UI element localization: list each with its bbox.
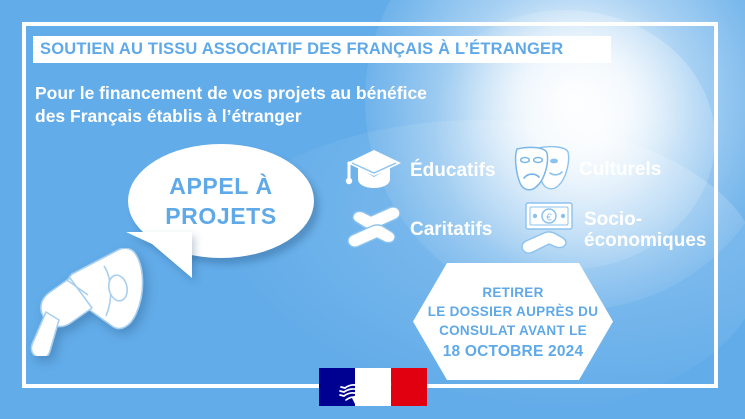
speech-bubble-text: APPEL À PROJETS: [128, 144, 314, 258]
category-label: Socio- économiques: [584, 209, 706, 251]
theater-masks-icon: [512, 142, 572, 197]
svg-text:€: €: [546, 213, 552, 224]
page-subtitle: Pour le financement de vos projets au bé…: [35, 82, 427, 128]
hand-holding-money-icon: €: [521, 200, 577, 259]
category-label: Culturels: [579, 159, 661, 180]
graduation-cap-icon: [345, 146, 403, 195]
title-band: SOUTIEN AU TISSU ASSOCIATIF DES FRANÇAIS…: [33, 36, 611, 63]
category-educatifs: Éducatifs: [345, 146, 496, 195]
megaphone-icon: [26, 248, 154, 356]
republique-francaise-marianne-logo: [319, 368, 427, 406]
category-socio-economiques: € Socio- économiques: [521, 200, 706, 259]
category-culturels: Culturels: [512, 142, 661, 197]
page-title: SOUTIEN AU TISSU ASSOCIATIF DES FRANÇAIS…: [40, 40, 563, 59]
poster-canvas: SOUTIEN AU TISSU ASSOCIATIF DES FRANÇAIS…: [0, 0, 745, 419]
deadline-badge: RETIRER LE DOSSIER AUPRÈS DU CONSULAT AV…: [413, 263, 613, 380]
helping-hands-icon: [345, 206, 403, 253]
category-label: Éducatifs: [410, 160, 496, 181]
badge-line-1: RETIRER: [482, 283, 543, 302]
badge-line-3: CONSULAT AVANT LE: [439, 321, 587, 340]
badge-line-2: LE DOSSIER AUPRÈS DU: [428, 302, 599, 321]
category-caritatifs: Caritatifs: [345, 206, 492, 253]
category-label: Caritatifs: [410, 219, 492, 240]
badge-deadline-date: 18 OCTOBRE 2024: [443, 342, 584, 361]
